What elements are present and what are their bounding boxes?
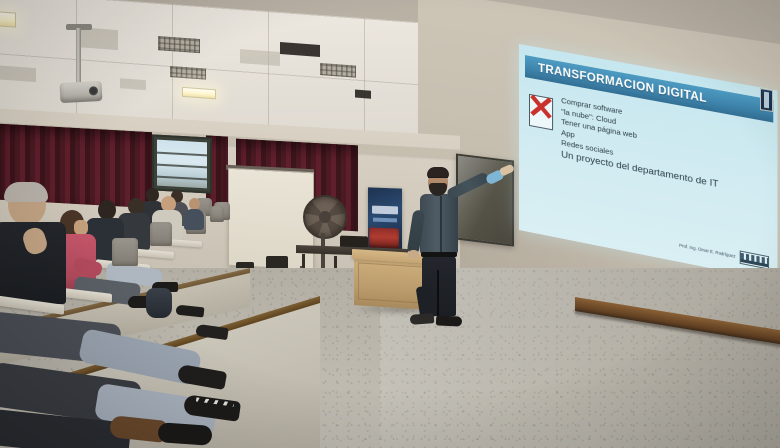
audience-member [184,198,206,230]
ceiling-light-panel [0,10,16,28]
slide-checkbox: ✕ [529,94,553,131]
auditorium-seat [210,206,224,222]
slide-credit: Prof. Ing. Omar E. Rodríguez [679,243,735,259]
pedestal-fan-head [303,195,347,239]
audience-member-foreground [0,184,72,304]
ceiling-vent-dark [355,90,371,99]
presenter-hand [408,250,419,259]
presenter-shoe [410,313,435,325]
exterior-window [152,134,212,193]
wall-sign [760,88,773,112]
grey-hair [4,182,48,202]
glasses-icon [428,177,448,182]
ceiling-tile-stain [0,65,36,82]
red-x-mark-icon: ✕ [526,90,556,134]
ceiling-air-vent [320,63,356,78]
sign-glyph-icon [764,92,769,109]
projector-lens-icon [89,86,98,95]
audience-face [74,220,88,235]
presenter-belt [421,252,457,257]
ceiling-tile-stain [240,49,280,66]
ceiling-tile-stain [120,78,146,90]
institutional-logo-icon [740,250,769,269]
ceiling-projector [60,81,103,103]
window-mullion [157,164,207,168]
ceiling-air-vent [158,36,200,53]
banner-subtext [373,218,397,223]
audience-shoe [157,422,212,446]
presenter-torso [420,194,458,254]
window-mullion [157,176,207,180]
shirt-placket [440,196,442,252]
ceiling-tile-stain [76,27,118,50]
window-mullion [157,152,207,156]
audience-torso [184,209,204,230]
presenter [398,166,508,334]
presenter-shoe [436,315,462,326]
lecture-hall-photo: TRANSFORMACION DIGITAL ✕ Comprar softwar… [0,0,780,448]
window-glass [157,140,207,189]
projector-pole [76,28,81,84]
red-equipment-case [369,227,399,248]
auditorium-seat [112,238,138,266]
auditorium-seat [150,222,172,246]
banner-logo-icon [372,206,398,215]
presenter-leg-seam [437,270,439,316]
presenter-raised-arm [446,171,490,200]
audience-head [98,200,116,220]
backpack [146,288,172,318]
